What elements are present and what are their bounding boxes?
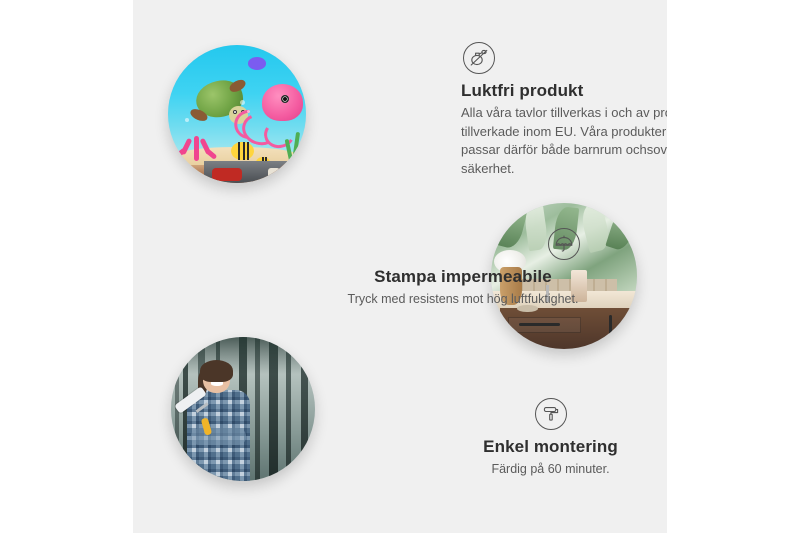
sofa — [212, 168, 242, 182]
paint-roller-icon — [535, 398, 567, 430]
cabinet-handle — [609, 315, 612, 335]
feature-description: Tryck med resistens mot hög luftfuktighe… — [328, 290, 598, 309]
canopy-shadow — [171, 337, 315, 374]
drawer-handle — [519, 323, 560, 326]
room-preview-strip — [204, 161, 287, 183]
feature-title: Stampa impermeabile — [328, 266, 598, 287]
lamp — [268, 168, 280, 181]
hair — [200, 360, 233, 382]
product-photo-painter[interactable] — [171, 337, 315, 481]
icon-wrap — [433, 398, 667, 430]
icon-wrap — [328, 228, 598, 260]
blue-fish — [248, 57, 266, 69]
bubble — [185, 118, 189, 122]
feature-title: Enkel montering — [433, 436, 667, 457]
turtle-eye — [233, 110, 237, 114]
umbrella-icon — [548, 228, 580, 260]
underwater-scene — [168, 45, 306, 183]
folded-arms — [191, 428, 246, 445]
product-feature-page: Luktfri produkt Alla våra tavlor tillver… — [0, 0, 800, 533]
content-panel: Luktfri produkt Alla våra tavlor tillver… — [133, 0, 667, 533]
feature-description: Färdig på 60 minuter. — [433, 460, 667, 479]
bubble — [240, 100, 245, 105]
striped-fish — [231, 142, 253, 160]
leaf — [605, 208, 637, 253]
painter-scene — [171, 337, 315, 481]
icon-wrap — [461, 42, 667, 74]
feature-block-odorless: Luktfri produkt Alla våra tavlor tillver… — [461, 42, 667, 178]
no-odor-spray-icon — [463, 42, 495, 74]
product-photo-aquarium[interactable] — [168, 45, 306, 183]
feature-block-easy-mounting: Enkel montering Färdig på 60 minuter. — [433, 398, 667, 479]
pink-coral — [176, 125, 217, 161]
vanity-cabinet — [500, 308, 637, 349]
smile — [211, 382, 223, 386]
feature-block-waterproof: Stampa impermeabile Tryck med resistens … — [328, 228, 598, 309]
bubble — [247, 110, 250, 113]
feature-description: Alla våra tavlor tillverkas i och av pro… — [461, 104, 667, 178]
feature-title: Luktfri produkt — [461, 80, 667, 101]
